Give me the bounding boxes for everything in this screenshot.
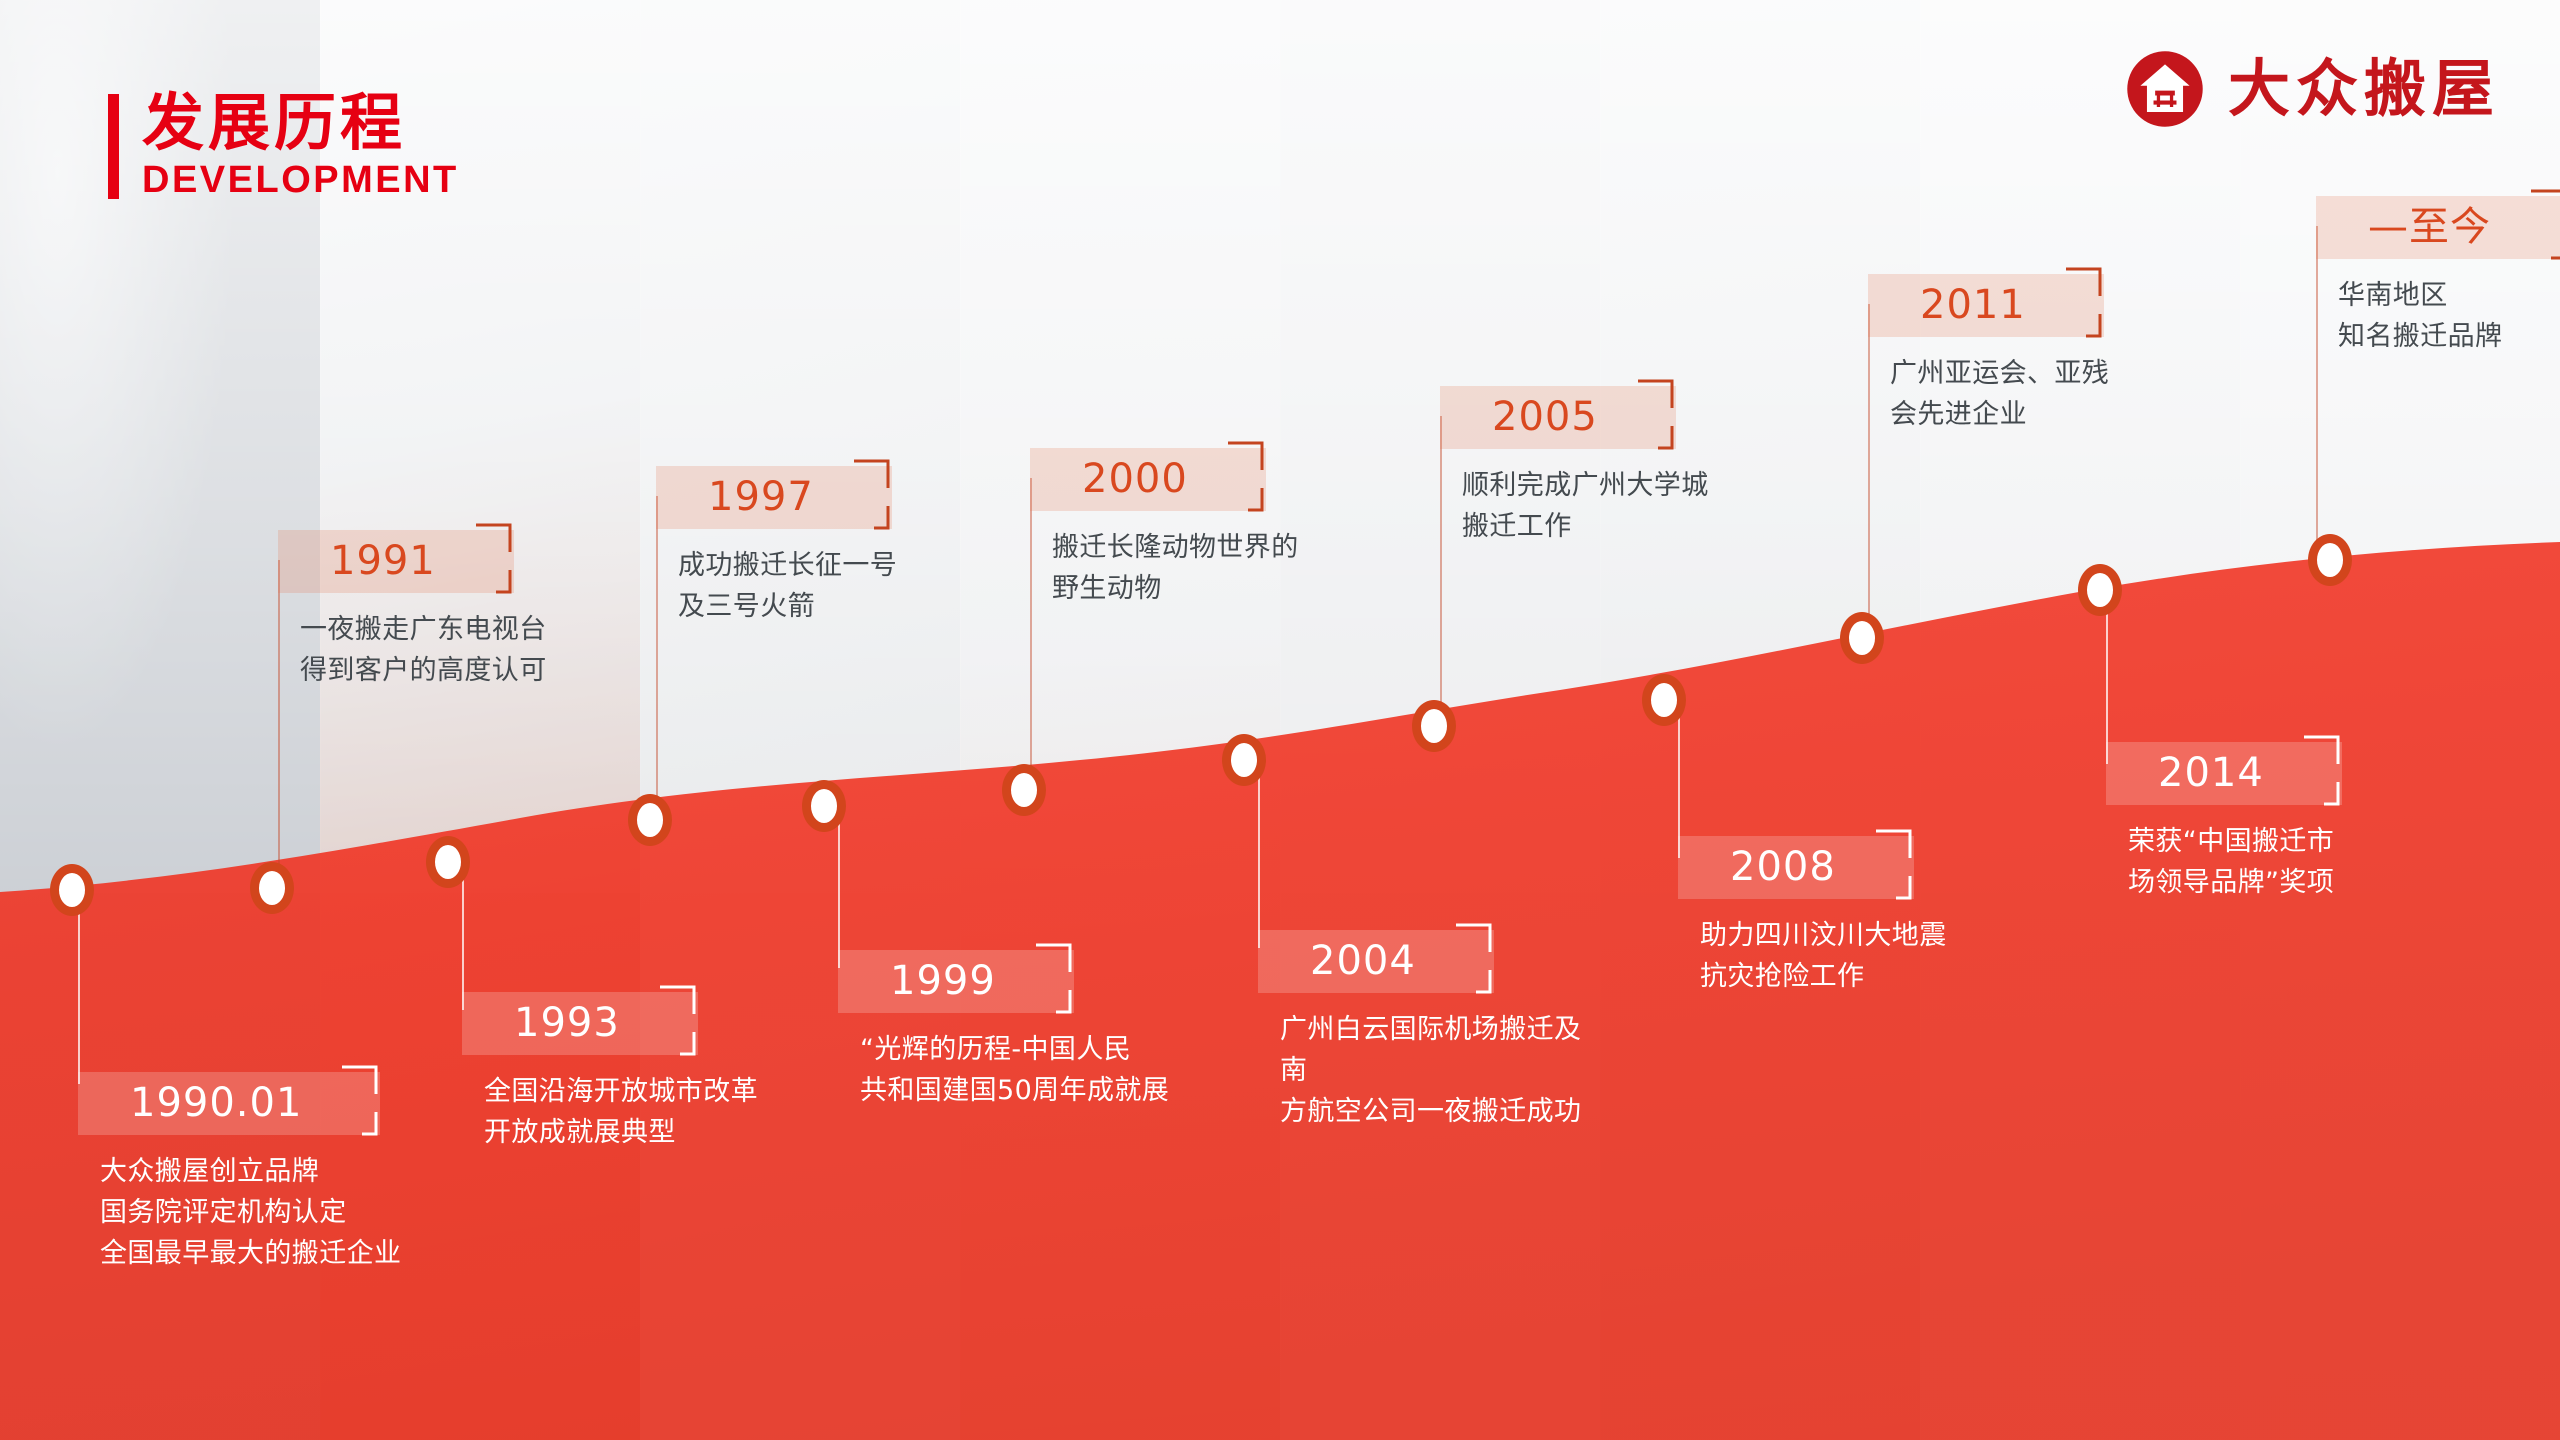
timeline-stem xyxy=(1258,768,1260,948)
timeline-stem xyxy=(462,870,464,1010)
corner-bracket-icon xyxy=(1870,828,1916,902)
corner-bracket-icon xyxy=(1632,378,1678,452)
timeline-node-marker[interactable] xyxy=(1219,731,1269,789)
milestone-description: 搬迁长隆动物世界的 野生动物 xyxy=(1030,527,1370,609)
milestone-year-wrap: 2005 xyxy=(1440,386,1676,449)
milestone-description: 华南地区 知名搬迁品牌 xyxy=(2316,275,2560,357)
corner-bracket-icon xyxy=(1450,922,1496,996)
timeline-node-marker[interactable] xyxy=(423,833,473,891)
corner-bracket-icon xyxy=(848,458,894,532)
milestone-card[interactable]: 2011广州亚运会、亚残 会先进企业 xyxy=(1868,274,2208,435)
milestone-year: 1990.01 xyxy=(78,1072,380,1135)
milestone-card[interactable]: 1997成功搬迁长征一号 及三号火箭 xyxy=(656,466,996,627)
timeline-node-marker[interactable] xyxy=(799,777,849,835)
milestone-description: 广州亚运会、亚残 会先进企业 xyxy=(1868,353,2208,435)
timeline-node-marker[interactable] xyxy=(2305,531,2355,589)
milestone-description: “光辉的历程-中国人民 共和国建国50周年成就展 xyxy=(838,1029,1178,1111)
timeline-node-marker[interactable] xyxy=(1409,697,1459,755)
milestone-description: 成功搬迁长征一号 及三号火箭 xyxy=(656,545,996,627)
milestone-card[interactable]: 2014荣获“中国搬迁市 场领导品牌”奖项 xyxy=(2106,742,2446,903)
milestone-description: 广州白云国际机场搬迁及南 方航空公司一夜搬迁成功 xyxy=(1258,1009,1598,1132)
milestone-year-wrap: 2004 xyxy=(1258,930,1494,993)
milestone-description: 一夜搬走广东电视台 得到客户的高度认可 xyxy=(278,609,618,691)
corner-bracket-icon xyxy=(1222,440,1268,514)
milestone-card[interactable]: 1991一夜搬走广东电视台 得到客户的高度认可 xyxy=(278,530,618,691)
timeline-node-marker[interactable] xyxy=(1639,671,1689,729)
timeline-stem xyxy=(2106,598,2108,764)
milestone-description: 顺利完成广州大学城 搬迁工作 xyxy=(1440,465,1780,547)
milestone-year: —至今 xyxy=(2316,196,2560,259)
corner-bracket-icon xyxy=(2060,266,2106,340)
corner-bracket-icon xyxy=(2525,188,2560,262)
milestone-year-wrap: 1991 xyxy=(278,530,514,593)
corner-bracket-icon xyxy=(1030,942,1076,1016)
milestone-year-wrap: 2008 xyxy=(1678,836,1914,899)
timeline-stem xyxy=(838,814,840,968)
milestone-year-wrap: 2011 xyxy=(1868,274,2104,337)
milestone-card[interactable]: 1993全国沿海开放城市改革 开放成就展典型 xyxy=(462,992,802,1153)
milestone-year-wrap: 1993 xyxy=(462,992,698,1055)
infographic-canvas: 发展历程 DEVELOPMENT 大众搬屋 1990.01大众搬屋创立品牌 国务… xyxy=(0,0,2560,1440)
milestone-card[interactable]: 2005顺利完成广州大学城 搬迁工作 xyxy=(1440,386,1780,547)
milestone-card[interactable]: 2004广州白云国际机场搬迁及南 方航空公司一夜搬迁成功 xyxy=(1258,930,1598,1132)
milestone-card[interactable]: 1990.01大众搬屋创立品牌 国务院评定机构认定 全国最早最大的搬迁企业 xyxy=(78,1072,418,1274)
milestone-card[interactable]: 1999“光辉的历程-中国人民 共和国建国50周年成就展 xyxy=(838,950,1178,1111)
milestone-year-wrap: 2000 xyxy=(1030,448,1266,511)
corner-bracket-icon xyxy=(336,1064,382,1138)
timeline-node-marker[interactable] xyxy=(47,861,97,919)
milestone-card[interactable]: —至今华南地区 知名搬迁品牌 xyxy=(2316,196,2560,357)
timeline-node-marker[interactable] xyxy=(625,791,675,849)
timeline-node-marker[interactable] xyxy=(999,761,1049,819)
milestone-description: 大众搬屋创立品牌 国务院评定机构认定 全国最早最大的搬迁企业 xyxy=(78,1151,418,1274)
corner-bracket-icon xyxy=(654,984,700,1058)
timeline-node-marker[interactable] xyxy=(247,859,297,917)
milestone-card[interactable]: 2000搬迁长隆动物世界的 野生动物 xyxy=(1030,448,1370,609)
corner-bracket-icon xyxy=(2298,734,2344,808)
timeline-node-marker[interactable] xyxy=(2075,561,2125,619)
milestone-card[interactable]: 2008助力四川汶川大地震 抗灾抢险工作 xyxy=(1678,836,2018,997)
milestone-year-wrap: 1999 xyxy=(838,950,1074,1013)
timeline-node-marker[interactable] xyxy=(1837,609,1887,667)
milestone-description: 荣获“中国搬迁市 场领导品牌”奖项 xyxy=(2106,821,2446,903)
corner-bracket-icon xyxy=(470,522,516,596)
timeline: 1990.01大众搬屋创立品牌 国务院评定机构认定 全国最早最大的搬迁企业199… xyxy=(0,0,2560,1440)
milestone-year-wrap: —至今 xyxy=(2316,196,2560,259)
milestone-description: 全国沿海开放城市改革 开放成就展典型 xyxy=(462,1071,802,1153)
milestone-year-wrap: 1997 xyxy=(656,466,892,529)
timeline-stem xyxy=(78,898,80,1084)
milestone-year-wrap: 2014 xyxy=(2106,742,2342,805)
milestone-description: 助力四川汶川大地震 抗灾抢险工作 xyxy=(1678,915,2018,997)
milestone-year-wrap: 1990.01 xyxy=(78,1072,380,1135)
